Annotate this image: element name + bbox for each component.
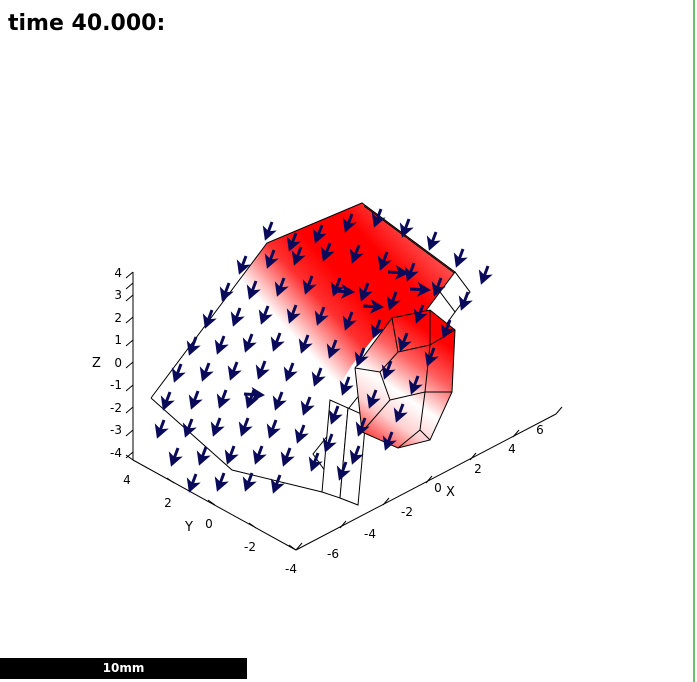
y-axis-label: Y (184, 520, 193, 535)
svg-text:-2: -2 (244, 540, 256, 554)
scale-bar: 10mm (0, 658, 247, 679)
scale-bar-label: 10mm (0, 658, 247, 679)
plot-canvas: 4 3 2 1 0 -1 -2 -3 -4 Z 4 2 0 -2 -4 Y (0, 0, 697, 682)
svg-text:-4: -4 (285, 562, 297, 576)
svg-text:4: 4 (114, 266, 122, 280)
svg-text:-3: -3 (110, 423, 122, 437)
svg-text:4: 4 (508, 442, 516, 456)
svg-text:0: 0 (114, 356, 122, 370)
svg-text:-4: -4 (110, 446, 122, 460)
svg-text:2: 2 (474, 462, 482, 476)
svg-text:2: 2 (114, 311, 122, 325)
z-axis-ticklabels: 4 3 2 1 0 -1 -2 -3 -4 (110, 266, 122, 460)
svg-text:2: 2 (164, 496, 172, 510)
y-axis-ticklabels: 4 2 0 -2 -4 (123, 473, 297, 576)
svg-text:-2: -2 (110, 401, 122, 415)
z-axis-label: Z (92, 356, 101, 371)
svg-text:-1: -1 (110, 378, 122, 392)
svg-text:-4: -4 (364, 527, 376, 541)
svg-text:3: 3 (114, 288, 122, 302)
svg-text:1: 1 (114, 333, 122, 347)
visualization-window: time 40.000: (0, 0, 697, 682)
z-axis (126, 272, 133, 460)
svg-text:6: 6 (536, 423, 544, 437)
right-border-accent (693, 0, 695, 682)
svg-text:-6: -6 (327, 547, 339, 561)
svg-text:0: 0 (434, 481, 442, 495)
svg-text:4: 4 (123, 473, 131, 487)
mesh-bottom-strip (322, 400, 366, 505)
x-axis-label: X (446, 485, 455, 500)
svg-text:-2: -2 (401, 505, 413, 519)
svg-text:0: 0 (205, 517, 213, 531)
